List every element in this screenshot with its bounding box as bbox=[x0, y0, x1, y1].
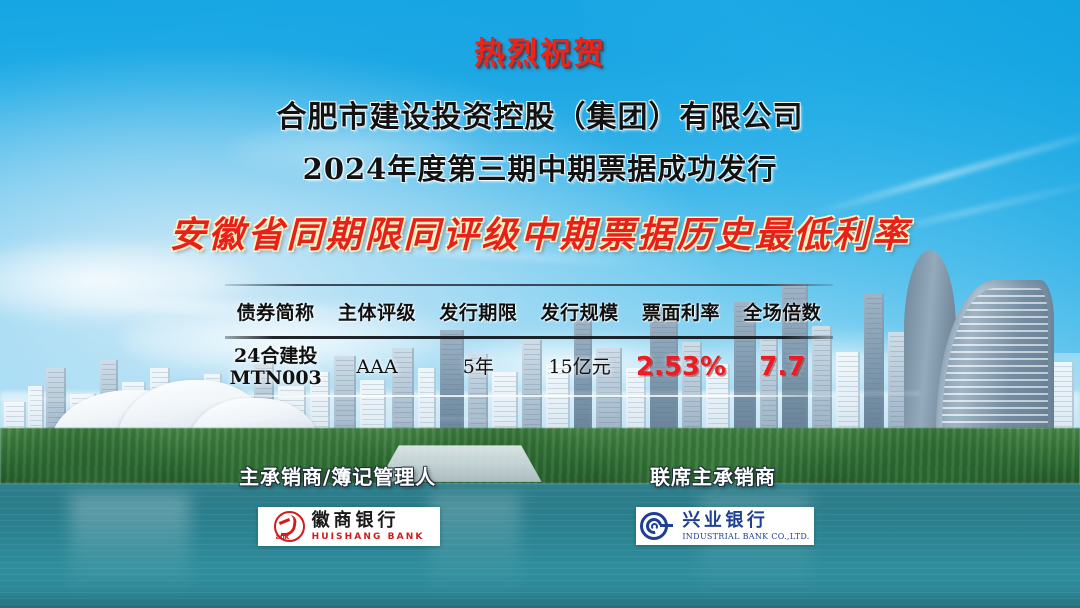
industrial-bank-logo: 兴业银行 INDUSTRIAL BANK CO.,LTD. bbox=[636, 507, 814, 545]
highlight-banner: 安徽省同期限同评级中期票据历史最低利率 bbox=[0, 206, 1080, 258]
role-label-joint-underwriter: 联席主承销商 bbox=[650, 461, 776, 490]
table-header-scale: 发行规模 bbox=[529, 298, 630, 325]
table-row: 24合建投 MTN003 AAA 5年 15亿元 2.53% 7.7 bbox=[225, 339, 833, 395]
table-header-rating: 主体评级 bbox=[326, 298, 427, 325]
role-label-lead-underwriter: 主承销商/簿记管理人 bbox=[239, 461, 436, 490]
cell-rating: AAA bbox=[326, 356, 427, 378]
bond-name-line1: 24合建投 bbox=[225, 345, 326, 367]
table-header-row: 债券简称 主体评级 发行期限 发行规模 票面利率 全场倍数 bbox=[225, 286, 833, 336]
issuer-name: 合肥市建设投资控股（集团）有限公司 bbox=[0, 92, 1080, 136]
industrial-name-en: INDUSTRIAL BANK CO.,LTD. bbox=[682, 533, 809, 541]
bond-name-line2: MTN003 bbox=[225, 367, 326, 389]
table-bottom-rule bbox=[225, 395, 833, 397]
table-header-coupon-rate: 票面利率 bbox=[630, 298, 731, 325]
huishang-emblem-icon: ank bbox=[274, 511, 305, 542]
table-header-multiple: 全场倍数 bbox=[732, 298, 833, 325]
industrial-name-cn: 兴业银行 bbox=[682, 512, 809, 530]
huishang-bank-logo: ank 徽商银行 HUISHANG BANK bbox=[258, 507, 440, 546]
industrial-bank-spiral-icon bbox=[640, 511, 674, 541]
poster-content: 热烈祝贺 合肥市建设投资控股（集团）有限公司 2024年度第三期中期票据成功发行… bbox=[0, 0, 1080, 608]
huishang-name-cn: 徽商银行 bbox=[312, 512, 425, 530]
huishang-mark-text: ank bbox=[276, 533, 289, 541]
cell-bond-name: 24合建投 MTN003 bbox=[225, 345, 326, 389]
table-header-bond-name: 债券简称 bbox=[225, 298, 326, 325]
cell-scale: 15亿元 bbox=[529, 356, 630, 378]
huishang-name-en: HUISHANG BANK bbox=[312, 533, 425, 542]
cell-subscription-multiple: 7.7 bbox=[732, 352, 833, 382]
table-header-term: 发行期限 bbox=[428, 298, 529, 325]
congrats-title: 热烈祝贺 bbox=[0, 28, 1080, 73]
cell-coupon-rate: 2.53% bbox=[630, 352, 731, 382]
congratulation-poster: 热烈祝贺 合肥市建设投资控股（集团）有限公司 2024年度第三期中期票据成功发行… bbox=[0, 0, 1080, 608]
issue-description: 2024年度第三期中期票据成功发行 bbox=[0, 146, 1080, 188]
cell-term: 5年 bbox=[428, 356, 529, 378]
bond-details-table: 债券简称 主体评级 发行期限 发行规模 票面利率 全场倍数 24合建投 MTN0… bbox=[225, 284, 833, 397]
